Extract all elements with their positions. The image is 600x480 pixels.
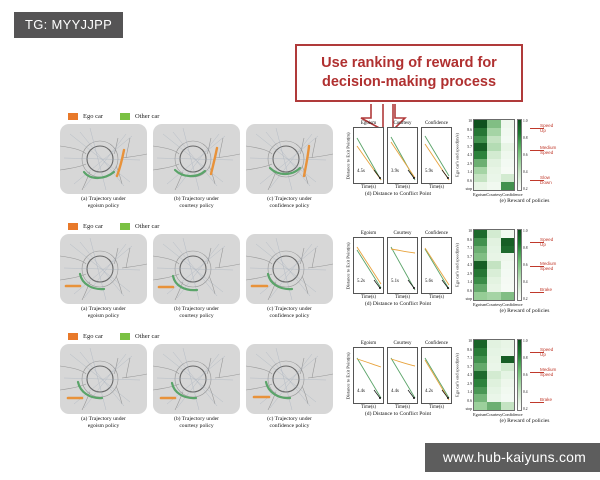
heatmap-cell — [487, 402, 500, 410]
annotation-speed-up: Speed Up — [540, 347, 553, 358]
heatmap-cell — [501, 402, 514, 410]
heatmap-cell — [474, 277, 487, 285]
heatmap-cell — [474, 292, 487, 300]
conflict-time-label: 5.1s — [390, 279, 400, 284]
heatmap-cell — [501, 292, 514, 300]
heatmap-cell — [487, 348, 500, 356]
tg-badge: TG: MYYJJPP — [14, 12, 123, 38]
roundabout-diagram-a — [60, 344, 147, 414]
panel-d-caption: (d) Distance to Conflict Point — [343, 191, 453, 197]
reward-heatmap — [473, 229, 515, 301]
heatmap-cell — [487, 182, 500, 190]
heatmap-cell — [487, 159, 500, 167]
panel-d-subplot-confidence: Confidence 5.9s Time(s) — [421, 121, 452, 190]
heatmap-cell — [474, 230, 487, 238]
trajectory-caption-c: (c) Trajectory under confidence policy — [246, 306, 333, 320]
panel-d-subplot-courtesy: Courtesy 4.4s Time(s) — [387, 341, 418, 410]
ego-car-swatch — [68, 333, 78, 340]
line-plot: 3.9s — [387, 127, 418, 184]
trajectory-panel-b: (b) Trajectory under courtesy policy — [153, 234, 240, 320]
conflict-time-label: 3.9s — [390, 169, 400, 174]
heatmap-cell — [487, 253, 500, 261]
trajectory-caption-a: (a) Trajectory under egoism policy — [60, 196, 147, 210]
annotation-brake: Brake — [540, 287, 552, 292]
panel-d-ylabel: Distance to Exit Point(m) — [343, 231, 353, 300]
trajectory-panel-a: (a) Trajectory under egoism policy — [60, 234, 147, 320]
heatmap-cell — [487, 379, 500, 387]
heatmap-cell — [487, 151, 500, 159]
trajectory-caption-c: (c) Trajectory under confidence policy — [246, 196, 333, 210]
heatmap-cell — [501, 136, 514, 144]
annotation-medium-speed: Medium Speed — [540, 145, 556, 156]
heatmap-cell — [487, 136, 500, 144]
heatmap-cell — [487, 340, 500, 348]
heatmap-cell — [474, 363, 487, 371]
heatmap-cell — [474, 159, 487, 167]
figure-row-3: Ego car Other car — [60, 333, 595, 437]
heatmap-annotations: Speed Up Medium Speed Brake — [532, 339, 578, 411]
heatmap-cell — [501, 261, 514, 269]
heatmap-cell — [474, 136, 487, 144]
roundabout-diagram-c — [246, 344, 333, 414]
heatmap-cell — [474, 253, 487, 261]
heatmap-cell — [501, 379, 514, 387]
heatmap-cell — [474, 394, 487, 402]
heatmap-cell — [501, 128, 514, 136]
heatmap-cell — [501, 371, 514, 379]
legend-row-2: Ego car Other car — [68, 223, 159, 230]
callout-line-2: decision-making process — [303, 73, 515, 92]
line-plot: 4.4s — [353, 347, 384, 404]
trajectory-panel-c: (c) Trajectory under confidence policy — [246, 344, 333, 430]
heatmap-cell — [487, 277, 500, 285]
heatmap-cell — [474, 387, 487, 395]
figure-page: TG: MYYJJPP Use ranking of reward for de… — [0, 0, 600, 480]
heatmap-cell — [474, 402, 487, 410]
heatmap-cell — [501, 387, 514, 395]
roundabout-diagram-c — [246, 234, 333, 304]
line-plot: 4.2s — [421, 347, 452, 404]
heatmap-cell — [501, 269, 514, 277]
heatmap-cell — [487, 128, 500, 136]
heatmap-cell — [474, 128, 487, 136]
figure-row-1: Ego car Other car — [60, 113, 595, 217]
roundabout-diagram-a — [60, 234, 147, 304]
panel-d-subplot-confidence: Confidence 4.2s Time(s) — [421, 341, 452, 410]
heatmap-cell — [501, 348, 514, 356]
conflict-time-label: 4.4s — [390, 389, 400, 394]
panel-d-caption: (d) Distance to Conflict Point — [343, 411, 453, 417]
trajectory-panels-row-1: (a) Trajectory under egoism policy — [60, 124, 333, 210]
panel-e-caption: (e) Reward of policies — [452, 418, 597, 424]
conflict-time-label: 5.9s — [424, 169, 434, 174]
legend-row-1: Ego car Other car — [68, 113, 159, 120]
panel-e-xlabels: Egoism Courtesy Confidence — [473, 302, 515, 307]
heatmap-cell — [487, 246, 500, 254]
heatmap-cell — [487, 269, 500, 277]
ego-car-label: Ego car — [83, 113, 103, 120]
heatmap-cell — [501, 238, 514, 246]
panel-e-caption: (e) Reward of policies — [452, 308, 597, 314]
line-plot: 4.4s — [387, 347, 418, 404]
annotation-medium-speed: Medium Speed — [540, 367, 556, 378]
heatmap-cell — [501, 159, 514, 167]
heatmap-cell — [474, 151, 487, 159]
reward-heatmap — [473, 339, 515, 411]
panel-e-row-1: Ego car's end speed(m/s) 10 8.6 7.1 5.7 … — [452, 119, 597, 204]
heatmap-cell — [501, 284, 514, 292]
panel-e-xlabels: Egoism Courtesy Confidence — [473, 192, 515, 197]
colorbar-ticks: 1.0 0.8 0.6 0.4 0.2 — [522, 229, 532, 301]
heatmap-cell — [501, 230, 514, 238]
roundabout-diagram-c — [246, 124, 333, 194]
trajectory-panel-b: (b) Trajectory under courtesy policy — [153, 124, 240, 210]
heatmap-cell — [474, 167, 487, 175]
heatmap-cell — [501, 143, 514, 151]
heatmap-cell — [474, 356, 487, 364]
heatmap-cell — [487, 394, 500, 402]
trajectory-panel-c: (c) Trajectory under confidence policy — [246, 234, 333, 320]
panel-e-row-2: Ego car's end speed(m/s) 10 8.6 7.1 5.7 … — [452, 229, 597, 314]
line-plot: 5.2s — [353, 237, 384, 294]
trajectory-panel-a: (a) Trajectory under egoism policy — [60, 344, 147, 430]
panel-d-row-1: Distance to Exit Point(m) Egoism 4.5s — [343, 121, 453, 197]
panel-e-yticks: 10 8.6 7.1 5.7 4.3 2.9 1.4 0.6 stop — [462, 229, 473, 301]
heatmap-cell — [474, 120, 487, 128]
trajectory-panel-c: (c) Trajectory under confidence policy — [246, 124, 333, 210]
heatmap-cell — [501, 174, 514, 182]
trajectory-caption-a: (a) Trajectory under egoism policy — [60, 306, 147, 320]
heatmap-cell — [474, 269, 487, 277]
panel-e-ylabel: Ego car's end speed(m/s) — [452, 339, 462, 411]
other-car-label: Other car — [135, 333, 159, 340]
heatmap-cell — [501, 182, 514, 190]
heatmap-cell — [487, 356, 500, 364]
panel-e-yticks: 10 8.6 7.1 5.7 4.3 2.9 1.4 0.6 stop — [462, 339, 473, 411]
heatmap-cell — [501, 246, 514, 254]
conflict-time-label: 4.5s — [356, 169, 366, 174]
heatmap-annotations: Speed Up Medium Speed Slow Down — [532, 119, 578, 191]
trajectory-caption-b: (b) Trajectory under courtesy policy — [153, 416, 240, 430]
watermark: www.hub-kaiyuns.com — [425, 443, 600, 472]
annotation-slow-down: Slow Down — [540, 175, 552, 186]
panel-d-subplot-confidence: Confidence 5.6s Time(s) — [421, 231, 452, 300]
heatmap-cell — [501, 151, 514, 159]
roundabout-diagram-a — [60, 124, 147, 194]
heatmap-cell — [474, 348, 487, 356]
trajectory-caption-c: (c) Trajectory under confidence policy — [246, 416, 333, 430]
ego-car-label: Ego car — [83, 333, 103, 340]
heatmap-cell — [474, 174, 487, 182]
trajectory-panels-row-2: (a) Trajectory under egoism policy — [60, 234, 333, 320]
panel-d-row-3: Distance to Exit Point(m) Egoism 4.4s — [343, 341, 453, 417]
heatmap-cell — [487, 143, 500, 151]
panel-e-xlabels: Egoism Courtesy Confidence — [473, 412, 515, 417]
reward-heatmap — [473, 119, 515, 191]
heatmap-cell — [474, 340, 487, 348]
heatmap-cell — [501, 167, 514, 175]
panel-e-ylabel: Ego car's end speed(m/s) — [452, 229, 462, 301]
panel-e-ylabel: Ego car's end speed(m/s) — [452, 119, 462, 191]
heatmap-cell — [474, 238, 487, 246]
heatmap-cell — [487, 261, 500, 269]
panel-d-subplot-egoism: Egoism 4.5s Time(s) — [353, 121, 384, 190]
panel-d-subplot-egoism: Egoism 4.4s Time(s) — [353, 341, 384, 410]
other-car-label: Other car — [135, 223, 159, 230]
figure-row-2: Ego car Other car — [60, 223, 595, 327]
colorbar-ticks: 1.0 0.8 0.6 0.4 0.2 — [522, 339, 532, 411]
trajectory-panels-row-3: (a) Trajectory under egoism policy — [60, 344, 333, 430]
heatmap-cell — [487, 238, 500, 246]
heatmap-cell — [487, 174, 500, 182]
roundabout-diagram-b — [153, 124, 240, 194]
heatmap-cell — [487, 284, 500, 292]
heatmap-cell — [474, 246, 487, 254]
panel-d-ylabel: Distance to Exit Point(m) — [343, 341, 353, 410]
heatmap-cell — [501, 120, 514, 128]
callout-box: Use ranking of reward for decision-makin… — [295, 44, 523, 102]
line-plot: 5.6s — [421, 237, 452, 294]
trajectory-caption-a: (a) Trajectory under egoism policy — [60, 416, 147, 430]
heatmap-cell — [501, 363, 514, 371]
ego-car-swatch — [68, 113, 78, 120]
roundabout-diagram-b — [153, 234, 240, 304]
panel-d-subplot-courtesy: Courtesy 5.1s Time(s) — [387, 231, 418, 300]
conflict-time-label: 5.6s — [424, 279, 434, 284]
heatmap-cell — [474, 284, 487, 292]
heatmap-cell — [474, 182, 487, 190]
panel-d-subplot-courtesy: Courtesy 3.9s Time(s) — [387, 121, 418, 190]
trajectory-caption-b: (b) Trajectory under courtesy policy — [153, 306, 240, 320]
panel-d-row-2: Distance to Exit Point(m) Egoism 5.2s — [343, 231, 453, 307]
heatmap-cell — [487, 363, 500, 371]
annotation-speed-up: Speed Up — [540, 123, 553, 134]
panel-e-yticks: 10 8.6 7.1 5.7 4.3 2.9 1.4 0.6 stop — [462, 119, 473, 191]
heatmap-cell — [501, 253, 514, 261]
trajectory-caption-b: (b) Trajectory under courtesy policy — [153, 196, 240, 210]
panel-d-subplot-egoism: Egoism 5.2s Time(s) — [353, 231, 384, 300]
annotation-speed-up: Speed Up — [540, 237, 553, 248]
conflict-time-label: 4.2s — [424, 389, 434, 394]
panel-d-caption: (d) Distance to Conflict Point — [343, 301, 453, 307]
legend-row-3: Ego car Other car — [68, 333, 159, 340]
heatmap-cell — [501, 340, 514, 348]
annotation-brake: Brake — [540, 397, 552, 402]
ego-car-swatch — [68, 223, 78, 230]
other-car-swatch — [120, 333, 130, 340]
callout-line-1: Use ranking of reward for — [303, 54, 515, 73]
other-car-label: Other car — [135, 113, 159, 120]
heatmap-cell — [487, 120, 500, 128]
trajectory-panel-a: (a) Trajectory under egoism policy — [60, 124, 147, 210]
heatmap-cell — [474, 371, 487, 379]
conflict-time-label: 4.4s — [356, 389, 366, 394]
trajectory-panel-b: (b) Trajectory under courtesy policy — [153, 344, 240, 430]
line-plot: 5.1s — [387, 237, 418, 294]
heatmap-cell — [501, 356, 514, 364]
roundabout-diagram-b — [153, 344, 240, 414]
panel-e-row-3: Ego car's end speed(m/s) 10 8.6 7.1 5.7 … — [452, 339, 597, 424]
conflict-time-label: 5.2s — [356, 279, 366, 284]
ego-car-label: Ego car — [83, 223, 103, 230]
other-car-swatch — [120, 113, 130, 120]
panel-d-ylabel: Distance to Exit Point(m) — [343, 121, 353, 190]
annotation-medium-speed: Medium Speed — [540, 261, 556, 272]
other-car-swatch — [120, 223, 130, 230]
heatmap-cell — [501, 277, 514, 285]
heatmap-annotations: Speed Up Medium Speed Brake — [532, 229, 578, 301]
line-plot: 5.9s — [421, 127, 452, 184]
heatmap-cell — [487, 167, 500, 175]
line-plot: 4.5s — [353, 127, 384, 184]
heatmap-cell — [474, 143, 487, 151]
heatmap-cell — [487, 387, 500, 395]
heatmap-cell — [501, 394, 514, 402]
heatmap-cell — [474, 379, 487, 387]
heatmap-cell — [474, 261, 487, 269]
heatmap-cell — [487, 371, 500, 379]
heatmap-cell — [487, 292, 500, 300]
panel-e-caption: (e) Reward of policies — [452, 198, 597, 204]
heatmap-cell — [487, 230, 500, 238]
